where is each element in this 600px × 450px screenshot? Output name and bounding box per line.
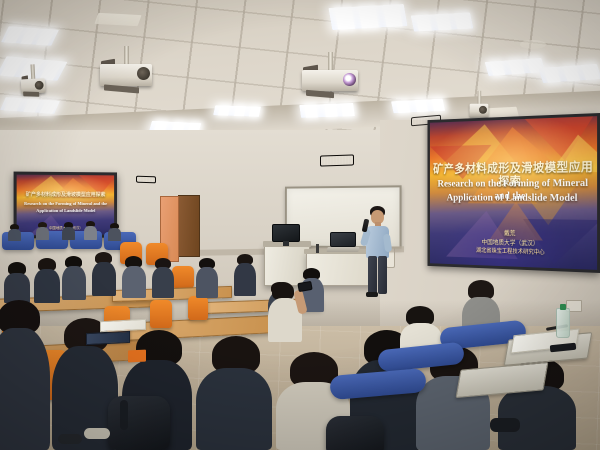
audience-body	[36, 227, 49, 240]
audience-member	[62, 256, 86, 300]
audience-body	[152, 267, 174, 298]
wall-speaker	[136, 176, 156, 184]
presenter-trousers	[378, 256, 387, 294]
audience-body	[122, 266, 146, 298]
audience-member-foreground	[196, 336, 272, 450]
slide-title-english-line1: Research on the Forming of Mineral and t…	[17, 201, 114, 206]
chair-orange[interactable]	[150, 300, 172, 328]
audience-member	[108, 223, 122, 241]
slide-content: 矿产多材料成形及滑坡模型应用探索 Research on the Forming…	[430, 116, 597, 270]
water-bottle	[556, 308, 570, 338]
audience-member	[92, 252, 116, 296]
slide-title-chinese: 矿产多材料成形及滑坡模型应用探索	[17, 193, 114, 199]
presenter-trousers	[368, 256, 377, 294]
audience-member-foreground	[0, 300, 50, 450]
presenter	[360, 206, 394, 296]
slide-title-english-line2: Application of Landslide Model	[430, 192, 597, 205]
audience-member	[8, 224, 22, 240]
desk-microphone	[316, 244, 319, 253]
backpack-strap	[120, 400, 128, 430]
audience-body	[234, 263, 256, 296]
ceiling-vent	[520, 40, 546, 49]
wall-speaker	[320, 154, 354, 166]
ceiling-light	[94, 13, 141, 26]
audience-body	[0, 328, 50, 450]
ceiling-light	[411, 12, 474, 31]
audience-body	[196, 368, 272, 450]
audience-body	[92, 262, 116, 296]
audience-member	[34, 258, 60, 302]
notebook	[86, 331, 130, 345]
ceiling-light	[328, 4, 407, 30]
chair-orange[interactable]	[172, 266, 194, 288]
ceiling-light	[1, 26, 59, 46]
bottle-cap	[560, 304, 567, 310]
shoe	[58, 434, 82, 444]
ceiling-projector-left	[20, 64, 46, 100]
backpack-on-floor	[326, 416, 384, 450]
shoe	[490, 418, 520, 432]
audience-member	[152, 258, 174, 298]
audience-body	[62, 266, 86, 300]
ceiling-projector-right	[302, 52, 358, 110]
podium-monitor	[272, 224, 300, 246]
audience-member	[196, 258, 218, 298]
audience-member	[4, 262, 30, 302]
ceiling-projector-far	[470, 91, 489, 115]
shoe	[84, 428, 110, 439]
ceiling-projector-center	[100, 46, 152, 108]
main-projection-screen: 矿产多材料成形及滑坡模型应用探索 Research on the Forming…	[428, 113, 600, 273]
backpack-on-floor	[108, 396, 170, 450]
audience-member	[84, 221, 98, 240]
audience-member	[36, 222, 50, 240]
lecture-hall-photo: 矿产多材料成形及滑坡模型应用探索 Research on the Forming…	[0, 0, 600, 450]
audience-body	[108, 228, 121, 241]
audience-body	[34, 269, 60, 303]
presenter-shoe	[366, 292, 378, 297]
audience-body	[8, 229, 21, 241]
orange-folder	[128, 350, 146, 363]
audience-body	[4, 273, 30, 303]
slide-title-english-line2: Application of Landslide Model	[17, 208, 114, 213]
audience-body	[196, 267, 218, 298]
presenter-arm-lower	[383, 234, 392, 253]
presenter-laptop	[330, 232, 356, 252]
audience-member	[122, 256, 146, 298]
side-door[interactable]	[178, 195, 200, 257]
projector-lens-icon	[343, 73, 356, 86]
audience-member	[234, 254, 256, 296]
audience-body	[62, 227, 75, 240]
ceiling-light	[213, 105, 261, 117]
audience-member	[62, 222, 76, 240]
audience-body	[84, 226, 97, 240]
chair-orange[interactable]	[188, 296, 208, 320]
